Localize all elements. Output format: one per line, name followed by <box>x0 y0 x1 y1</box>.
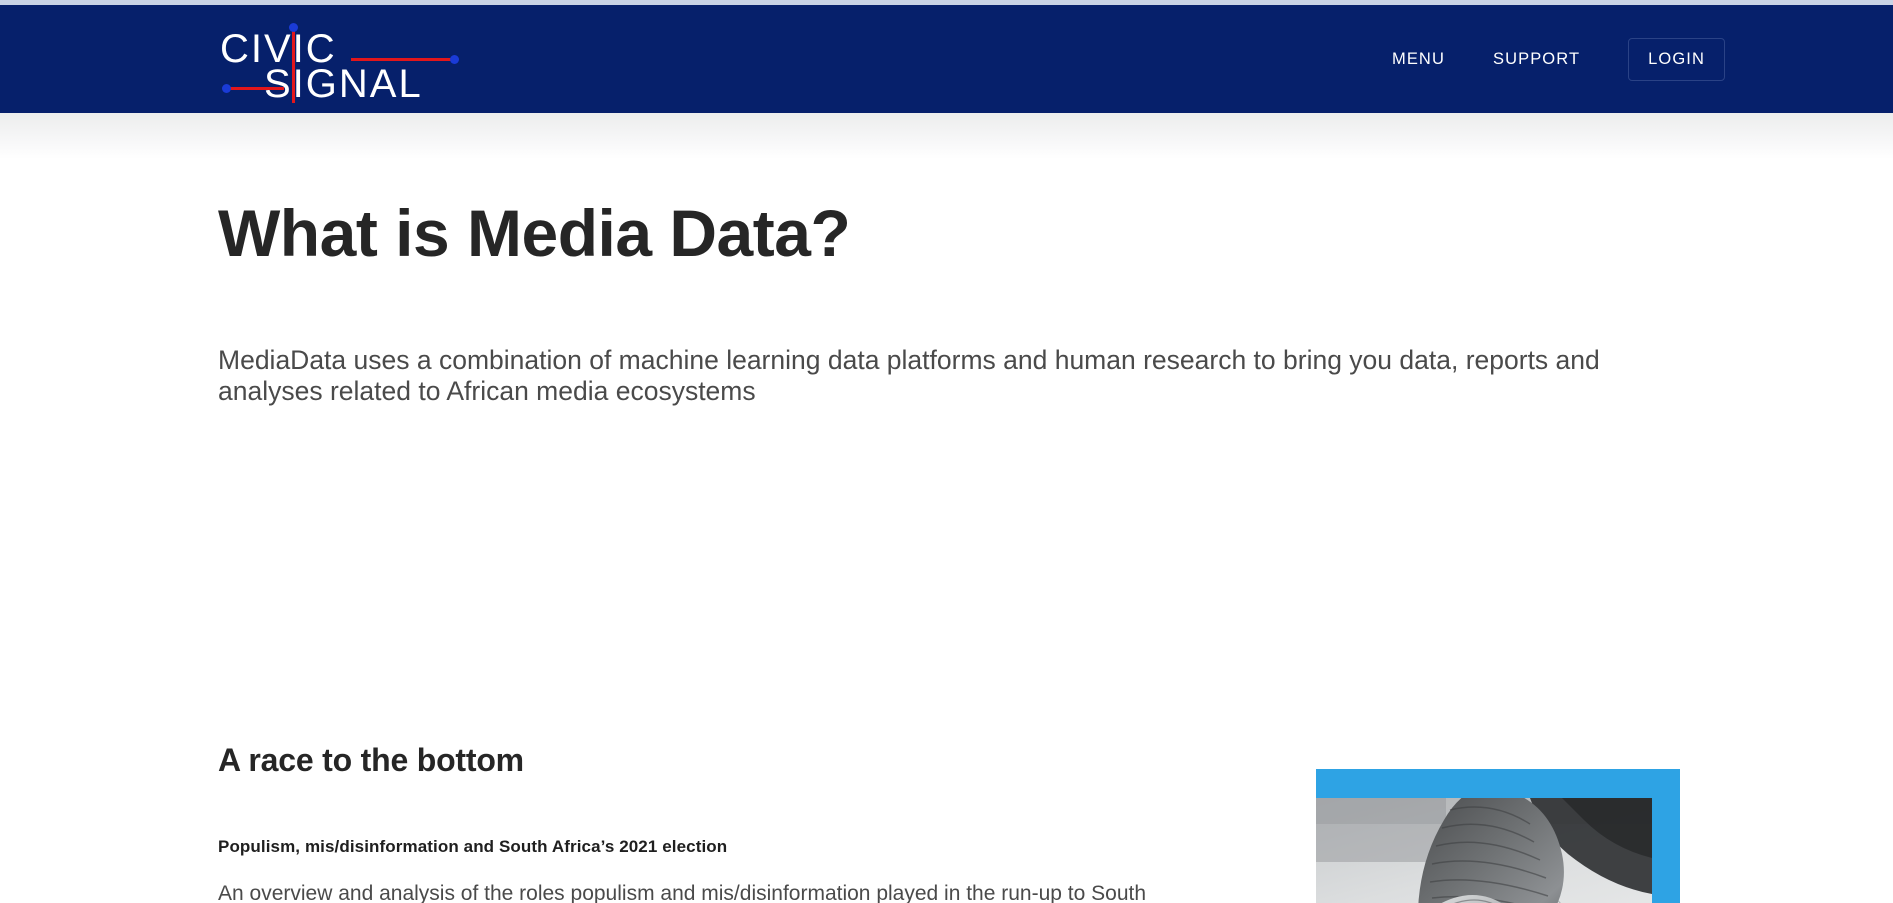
header-shadow-gradient <box>0 113 1893 159</box>
card-photo-thumbprint[interactable]: Left Left Thumbprint 2 <box>1316 798 1652 903</box>
page-subtitle: MediaData uses a combination of machine … <box>218 345 1638 408</box>
login-button[interactable]: LOGIN <box>1628 38 1725 81</box>
logo-right-blue-dot <box>450 55 459 64</box>
thumbprint-illustration: Left Left Thumbprint 2 <box>1316 798 1652 903</box>
site-header: CIVIC SIGNAL MENU SUPPORT LOGIN <box>0 5 1893 113</box>
logo-top-blue-dot <box>289 23 298 32</box>
logo-lower-red-line <box>228 87 284 90</box>
logo-text-signal: SIGNAL <box>264 64 423 104</box>
article-subheading: Populism, mis/disinformation and South A… <box>218 837 727 857</box>
article-body-text: An overview and analysis of the roles po… <box>218 879 1208 903</box>
logo-vertical-red-line <box>292 27 295 103</box>
primary-navigation: MENU SUPPORT LOGIN <box>1392 5 1725 113</box>
section-title-race-to-the-bottom: A race to the bottom <box>218 742 524 779</box>
civic-signal-logo[interactable]: CIVIC SIGNAL <box>218 27 448 99</box>
page-content: What is Media Data? MediaData uses a com… <box>0 159 1893 903</box>
media-card[interactable]: Left Left Thumbprint 2 <box>1316 769 1680 903</box>
page-title: What is Media Data? <box>218 199 850 268</box>
logo-upper-red-line <box>351 58 454 61</box>
nav-item-menu[interactable]: MENU <box>1392 50 1445 69</box>
logo-left-blue-dot <box>222 84 231 93</box>
nav-item-support[interactable]: SUPPORT <box>1493 50 1580 69</box>
